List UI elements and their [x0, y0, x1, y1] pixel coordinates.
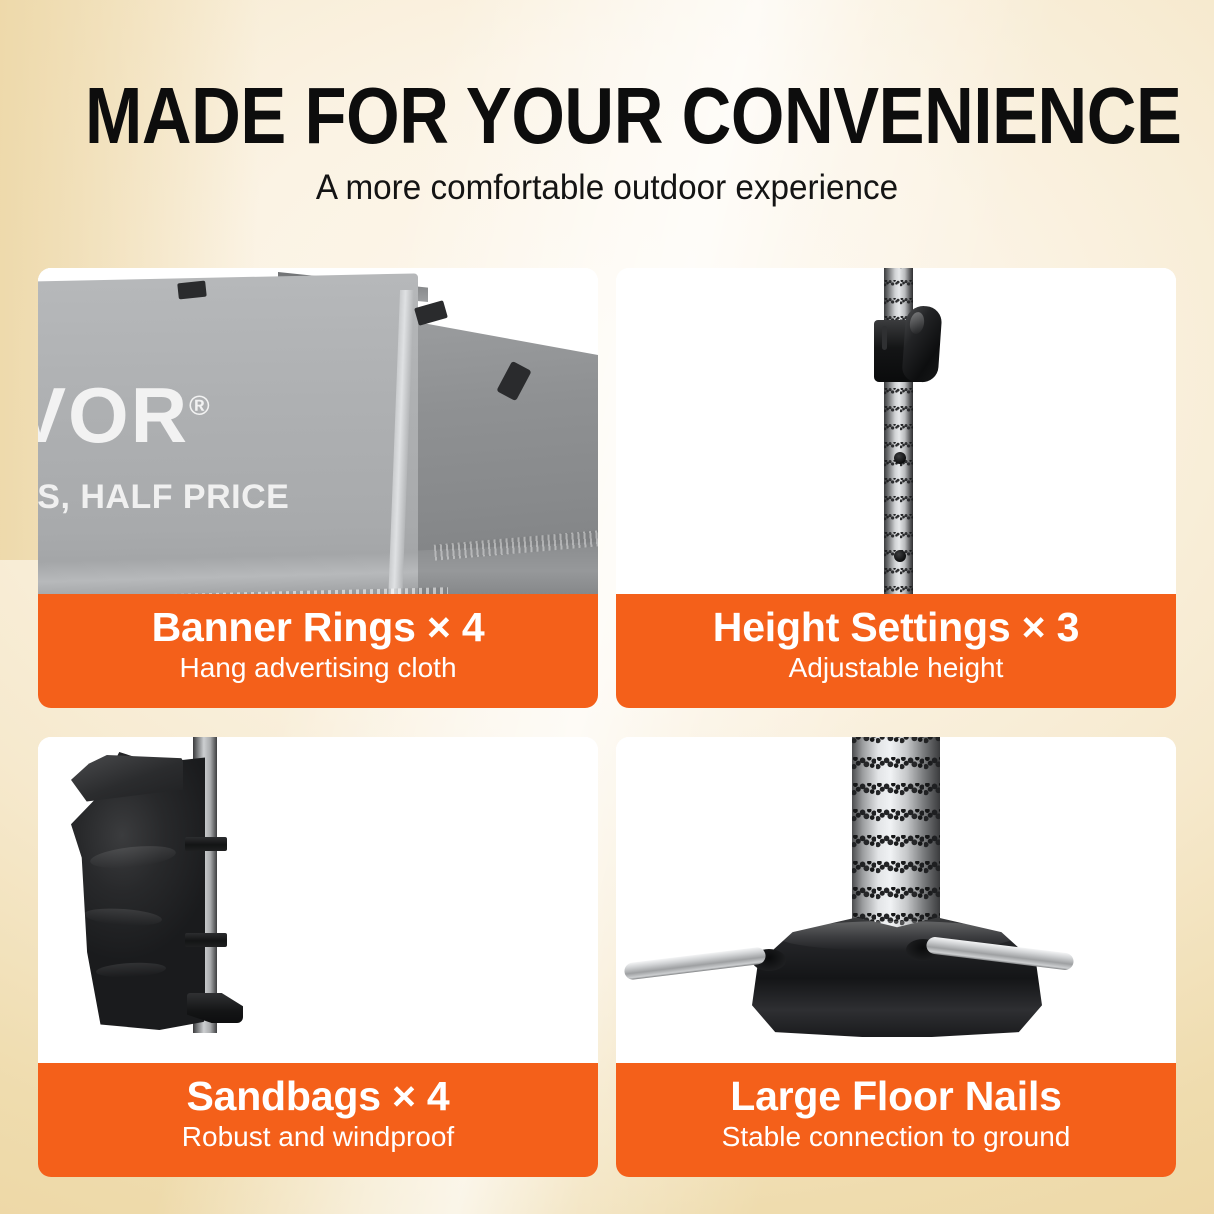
feature-card-grid: VOR® LS, HALF PRICE Banner Rings × 4 Han…: [38, 268, 1176, 1177]
floor-nails-illustration: [616, 737, 1176, 1063]
vevor-wordmark-text: VOR: [38, 371, 189, 459]
card-label-sandbags: Sandbags × 4 Robust and windproof: [38, 1063, 598, 1177]
card-title: Sandbags × 4: [38, 1074, 598, 1119]
vevor-wordmark: VOR®: [38, 376, 210, 454]
canopy-illustration: VOR® LS, HALF PRICE: [38, 268, 598, 594]
page-subtitle: A more comfortable outdoor experience: [30, 169, 1183, 208]
banner-ring-tab: [177, 281, 207, 300]
feature-card-large-floor-nails[interactable]: Large Floor Nails Stable connection to g…: [616, 737, 1176, 1177]
photo-banner-rings: VOR® LS, HALF PRICE: [38, 268, 598, 594]
card-title: Large Floor Nails: [616, 1074, 1176, 1119]
card-title: Height Settings × 3: [616, 605, 1176, 650]
feature-card-banner-rings[interactable]: VOR® LS, HALF PRICE Banner Rings × 4 Han…: [38, 268, 598, 708]
feature-card-sandbags[interactable]: Sandbags × 4 Robust and windproof: [38, 737, 598, 1177]
sandbag-illustration: [38, 737, 598, 1063]
page-title: MADE FOR YOUR CONVENIENCE: [85, 79, 1129, 153]
card-subtitle: Adjustable height: [616, 652, 1176, 684]
canopy-leg-pole: [852, 737, 940, 927]
registered-trademark-icon: ®: [189, 390, 210, 421]
sandbag-strap: [185, 933, 227, 947]
card-label-banner-rings: Banner Rings × 4 Hang advertising cloth: [38, 594, 598, 708]
vevor-tagline: LS, HALF PRICE: [38, 480, 289, 514]
card-label-large-floor-nails: Large Floor Nails Stable connection to g…: [616, 1063, 1176, 1177]
photo-sandbags: [38, 737, 598, 1063]
header: MADE FOR YOUR CONVENIENCE A more comfort…: [0, 0, 1214, 207]
feature-card-height-settings[interactable]: Height Settings × 3 Adjustable height: [616, 268, 1176, 708]
photo-height-settings: [616, 268, 1176, 594]
sandbag-strap: [185, 837, 227, 851]
card-subtitle: Robust and windproof: [38, 1121, 598, 1153]
height-adjust-hole: [894, 452, 906, 464]
photo-large-floor-nails: [616, 737, 1176, 1063]
card-subtitle: Stable connection to ground: [616, 1121, 1176, 1153]
floor-nail: [623, 946, 766, 980]
height-adjust-hole: [894, 550, 906, 562]
height-clamp-slot: [882, 326, 887, 350]
height-adjuster-illustration: [616, 268, 1176, 594]
hammertone-texture: [852, 737, 940, 927]
card-title: Banner Rings × 4: [38, 605, 598, 650]
card-label-height-settings: Height Settings × 3 Adjustable height: [616, 594, 1176, 708]
card-subtitle: Hang advertising cloth: [38, 652, 598, 684]
